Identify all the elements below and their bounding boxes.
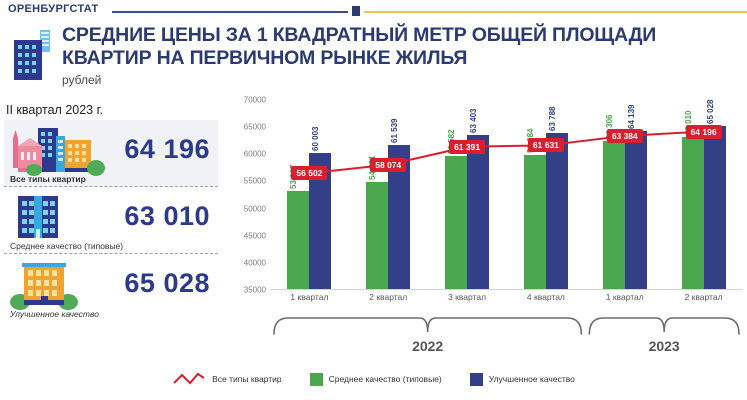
bar-group: 54 72161 539: [349, 100, 428, 289]
line-value-callout: 63 384: [607, 129, 643, 143]
y-tick-label: 45000: [244, 231, 266, 240]
y-axis-tick-labels: 7000065000600005500050000450004000035000: [228, 100, 268, 290]
legend-color-swatch: [470, 373, 483, 386]
orange-apartment-building-icon: [10, 258, 80, 314]
x-tick-label: 4 квартал: [506, 292, 585, 302]
y-tick-label: 35000: [244, 286, 266, 295]
bar-value-label: 64 139: [627, 104, 636, 128]
legend-color-swatch: [310, 373, 323, 386]
summary-card-standard-quality: 63 010 Среднее качество (типовые): [4, 187, 218, 254]
period-label: II квартал 2023 г.: [6, 103, 103, 117]
bar-improved: 63 403: [467, 135, 489, 289]
title-subtitle: рублей: [62, 73, 742, 87]
year-label: 2023: [649, 338, 680, 354]
y-tick-label: 50000: [244, 204, 266, 213]
card-value-standard-quality: 63 010: [124, 201, 210, 232]
organization-name: ОРЕНБУРГСТАТ: [8, 3, 99, 15]
card-label-all-types: Все типы квартир: [10, 174, 86, 184]
y-tick-label: 55000: [244, 177, 266, 186]
x-tick-label: 1 квартал: [585, 292, 664, 302]
line-value-callout: 64 196: [686, 125, 722, 139]
bar-value-label: 63 403: [469, 108, 478, 132]
line-value-callout: 58 074: [370, 158, 406, 172]
year-label: 2022: [412, 338, 443, 354]
x-tick-label: 1 квартал: [270, 292, 349, 302]
infographic-page: ОРЕНБУРГСТАТ СРЕДНИЕ ЦЕНЫ ЗА 1 КВАДРАТНЫ…: [0, 0, 747, 400]
navy-divider-line: [112, 11, 348, 13]
quarterly-price-chart: 7000065000600005500050000450004000035000…: [228, 100, 747, 305]
building-title-icon: [12, 28, 58, 82]
gold-divider-line: [364, 11, 747, 13]
y-tick-label: 60000: [244, 150, 266, 159]
line-value-callout: 61 631: [528, 138, 564, 152]
bar-value-label: 65 028: [706, 100, 715, 124]
bar-improved: 65 028: [704, 126, 726, 289]
y-tick-label: 70000: [244, 96, 266, 105]
bar-group: 59 68463 788: [506, 100, 585, 289]
legend-item[interactable]: Все типы квартир: [172, 372, 282, 386]
legend-item[interactable]: Улучшенное качество: [470, 373, 575, 386]
bar-improved: 63 788: [546, 133, 568, 289]
summary-card-all-types: 64 196 Все типы квартир: [4, 120, 218, 187]
title-line-1: СРЕДНИЕ ЦЕНЫ ЗА 1 КВАДРАТНЫЙ МЕТР ОБЩЕЙ …: [62, 24, 742, 47]
bar-value-label: 61 539: [390, 118, 399, 142]
bar-improved: 64 139: [625, 131, 647, 289]
year-brackets: 20222023: [228, 312, 747, 360]
card-label-improved-quality: Улучшенное качество: [10, 309, 99, 319]
card-label-standard-quality: Среднее качество (типовые): [10, 241, 123, 251]
bar-value-label: 63 788: [548, 106, 557, 130]
bar-standard: 54 721: [366, 182, 388, 289]
plot-area: 53 06760 00354 72161 53959 58263 40359 6…: [270, 100, 743, 290]
title-line-2: КВАРТИР НА ПЕРВИЧНОМ РЫНКЕ ЖИЛЬЯ: [62, 47, 742, 70]
y-tick-label: 65000: [244, 123, 266, 132]
bar-standard: 53 067: [287, 191, 309, 289]
summary-card-improved-quality: 65 028 Улучшенное качество: [4, 254, 218, 321]
bar-standard: 62 306: [603, 141, 625, 289]
bar-group: 59 58263 403: [428, 100, 507, 289]
legend-item[interactable]: Среднее качество (типовые): [310, 373, 442, 386]
bar-group: 53 06760 003: [270, 100, 349, 289]
page-title: СРЕДНИЕ ЦЕНЫ ЗА 1 КВАДРАТНЫЙ МЕТР ОБЩЕЙ …: [62, 24, 742, 87]
bracket-curves: [228, 312, 747, 338]
card-value-all-types: 64 196: [124, 134, 210, 165]
legend-label: Улучшенное качество: [489, 374, 575, 384]
x-axis-tick-labels: 1 квартал2 квартал3 квартал4 квартал1 кв…: [270, 292, 743, 302]
card-value-improved-quality: 65 028: [124, 268, 210, 299]
line-value-callout: 61 391: [449, 140, 485, 154]
blue-apartment-building-icon: [10, 191, 70, 247]
legend-label: Среднее качество (типовые): [329, 374, 442, 384]
y-tick-label: 40000: [244, 258, 266, 267]
legend-label: Все типы квартир: [212, 374, 282, 384]
x-tick-label: 3 квартал: [428, 292, 507, 302]
bar-groups: 53 06760 00354 72161 53959 58263 40359 6…: [270, 100, 743, 289]
navy-square-marker: [352, 6, 360, 16]
bar-value-label: 60 003: [311, 127, 320, 151]
line-value-callout: 56 502: [291, 166, 327, 180]
x-axis-baseline: [270, 289, 743, 290]
legend-line-marker: [172, 372, 206, 386]
summary-cards: 64 196 Все типы квартир 63 010 Среднее к…: [4, 120, 218, 321]
bar-standard: 63 010: [682, 137, 704, 289]
bar-standard: 59 582: [445, 156, 467, 289]
bar-standard: 59 684: [524, 155, 546, 289]
chart-legend: Все типы квартирСреднее качество (типовы…: [0, 372, 747, 386]
x-tick-label: 2 квартал: [349, 292, 428, 302]
top-bar: ОРЕНБУРГСТАТ: [0, 0, 747, 22]
x-tick-label: 2 квартал: [664, 292, 743, 302]
